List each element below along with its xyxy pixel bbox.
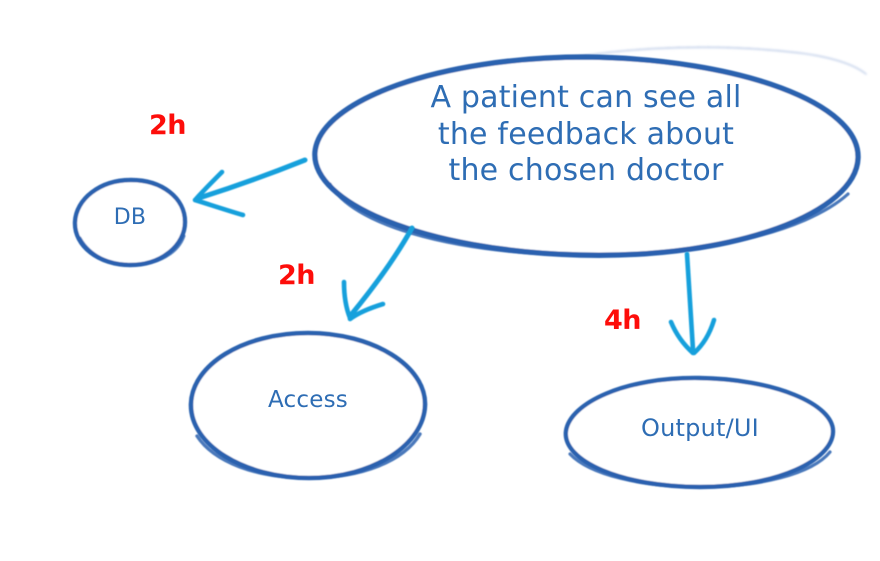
main-node-label: A patient can see all the feedback about… <box>340 80 832 190</box>
arrow-main-to-access <box>344 228 412 319</box>
output-node-label: Output/UI <box>600 414 800 443</box>
arrow-main-to-output <box>671 254 714 353</box>
arrow-main-to-db <box>195 160 305 215</box>
time-label-db: 2h <box>149 110 186 141</box>
diagram-canvas: A patient can see all the feedback about… <box>0 0 880 561</box>
access-node-label: Access <box>215 386 401 414</box>
time-label-access: 2h <box>278 260 315 291</box>
db-node-label: DB <box>80 205 180 232</box>
time-label-output: 4h <box>604 305 641 336</box>
